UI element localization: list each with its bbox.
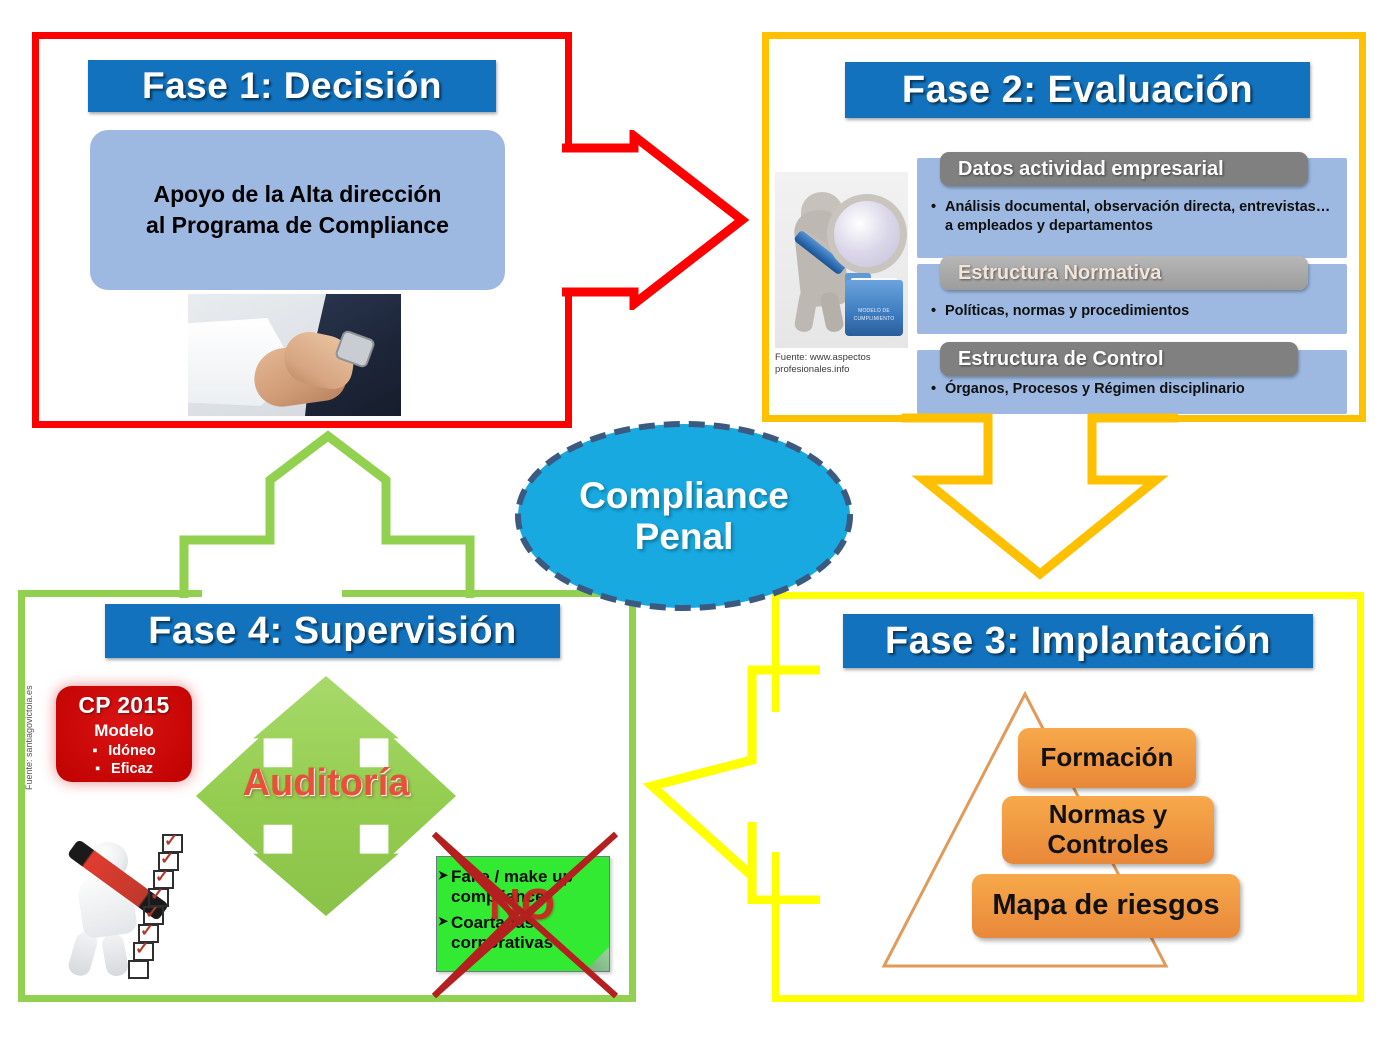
compliance-cycle-diagram: Fase 1: Decisión Apoyo de la Alta direcc… [0, 0, 1393, 1049]
checkbox-icon [128, 960, 149, 979]
check-mark-icon: ✓ [155, 868, 169, 885]
fase1-statement-line-2: al Programa de Compliance [146, 212, 449, 238]
check-mark-icon: ✓ [140, 922, 154, 939]
fase2-source-note: Fuente: www.aspectos profesionales.info [775, 352, 887, 376]
handshake-photo [188, 294, 401, 416]
title-fase-3: Fase 3: Implantación [843, 614, 1313, 668]
auditoria-label: Auditoría [196, 762, 456, 805]
cp-badge-title: CP 2015 [78, 692, 169, 719]
no-stamp-label: NO [436, 880, 608, 930]
arrow-fase4-to-fase1 [178, 430, 478, 610]
centre-label-group: Compliance Penal [512, 418, 856, 614]
fase2-heading-2: Estructura Normativa [940, 256, 1308, 290]
centre-label-line-1: Compliance [579, 475, 789, 516]
title-fase-2: Fase 2: Evaluación [845, 62, 1310, 118]
title-fase-4: Fase 4: Supervisión [105, 604, 560, 658]
check-mark-icon: ✓ [160, 850, 174, 867]
folder-label: MODELO DE CUMPLIMIENTO [845, 308, 903, 323]
arrow-fase3-to-fase4-outline [640, 664, 830, 904]
pyramid-level-3: Mapa de riesgos [972, 874, 1240, 938]
fase4-source-note: Fuente: santiagovictoia.es [24, 670, 34, 790]
cp-badge-item-2: Eficaz [95, 761, 153, 777]
fase2-row-1-bullet: Análisis documental, observación directa… [945, 198, 1333, 236]
centre-label-line-2: Penal [635, 516, 734, 557]
check-mark-icon: ✓ [145, 904, 159, 921]
fase1-statement-line-1: Apoyo de la Alta dirección [154, 181, 442, 207]
check-mark-icon: ✓ [135, 940, 149, 957]
check-mark-icon: ✓ [150, 886, 164, 903]
pyramid-level-1: Formación [1018, 728, 1196, 788]
fase2-row-3-bullet: Órganos, Procesos y Régimen disciplinari… [945, 380, 1333, 399]
figure-leg-left [793, 289, 818, 333]
magnifier-figure-image: MODELO DE CUMPLIMIENTO [775, 172, 908, 348]
cp-badge-item-1: Idóneo [92, 743, 156, 759]
pyramid-level-2: Normas y Controles [1002, 796, 1214, 864]
arrow-fase1-to-fase2 [556, 130, 756, 310]
title-fase-1: Fase 1: Decisión [88, 60, 496, 112]
checklist-figure-image: ✓ ✓ ✓ ✓ ✓ ✓ ✓ [58, 832, 210, 990]
check-mark-icon: ✓ [164, 832, 178, 849]
magnifier-lens-icon [827, 194, 907, 274]
fase2-heading-1: Datos actividad empresarial [940, 152, 1308, 186]
fase2-row-2-bullet: Políticas, normas y procedimientos [945, 302, 1333, 321]
checklist-figure-leg-right [101, 932, 130, 977]
auditoria-four-way-arrow: Auditoría [196, 676, 456, 916]
cp-badge-subtitle: Modelo [94, 721, 154, 741]
fase2-heading-3: Estructura de Control [940, 342, 1298, 376]
cp-2015-badge: CP 2015 Modelo Idóneo Eficaz [56, 686, 192, 782]
fase1-statement-box: Apoyo de la Alta dirección al Programa d… [90, 130, 505, 290]
arrow-fase2-to-fase3 [900, 404, 1180, 584]
